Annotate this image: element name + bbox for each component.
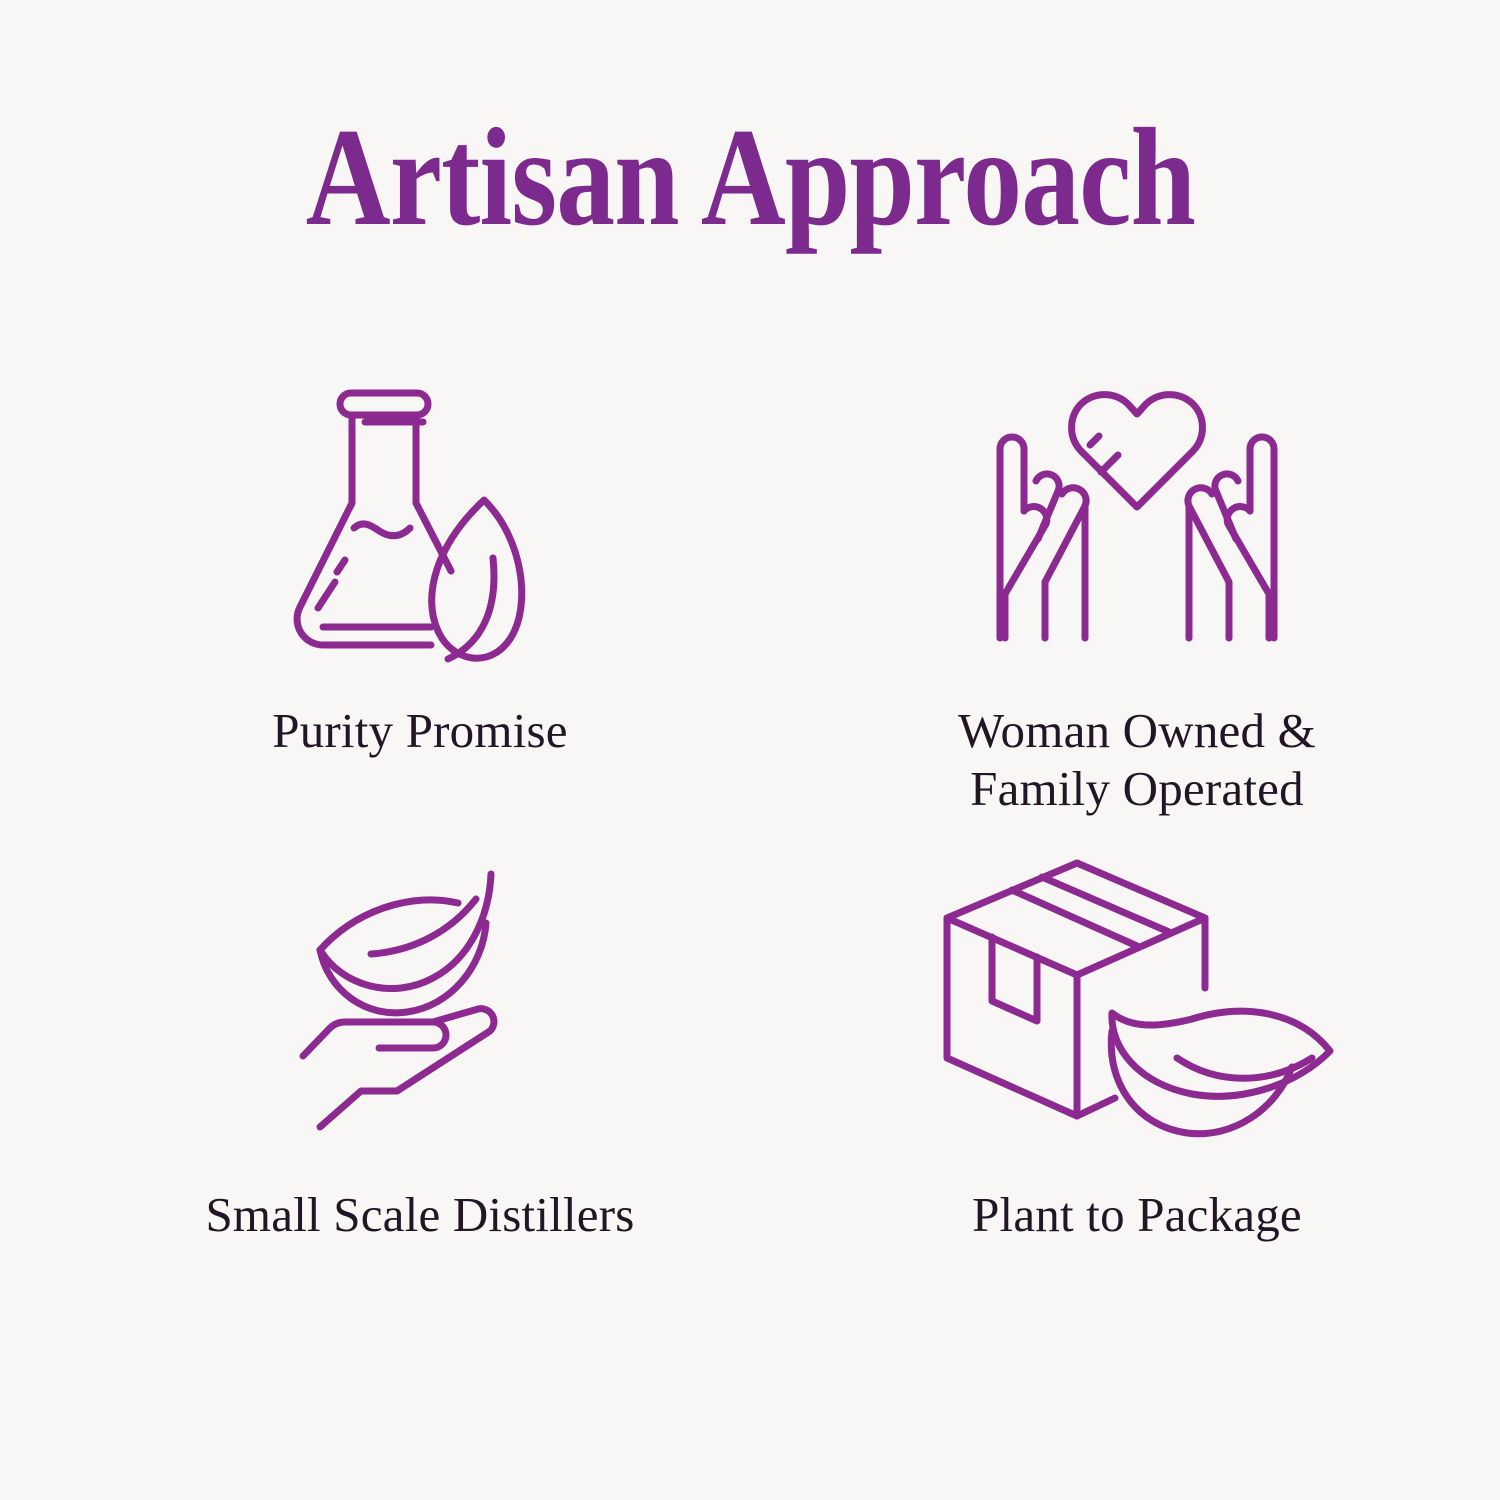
feature-label: Woman Owned & Family Operated (958, 702, 1316, 818)
hands-holding-heart-icon (977, 370, 1297, 670)
artisan-approach-infographic: Artisan Approach (0, 0, 1500, 1500)
page-title: Artisan Approach (305, 108, 1194, 248)
flask-leaf-icon (288, 370, 553, 670)
feature-label: Small Scale Distillers (205, 1186, 634, 1244)
box-leaf-icon (937, 840, 1337, 1140)
feature-item-plant-to-package: Plant to Package (750, 840, 1440, 1244)
page-title-wrap: Artisan Approach (0, 108, 1500, 248)
feature-label: Purity Promise (272, 702, 567, 760)
feature-item-purity-promise: Purity Promise (60, 370, 750, 840)
feature-grid: Purity Promise (60, 370, 1440, 1310)
feature-item-small-scale-distillers: Small Scale Distillers (60, 840, 750, 1244)
feature-label: Plant to Package (972, 1186, 1302, 1244)
hand-holding-leaf-icon (303, 840, 538, 1140)
feature-item-woman-owned: Woman Owned & Family Operated (750, 370, 1440, 840)
